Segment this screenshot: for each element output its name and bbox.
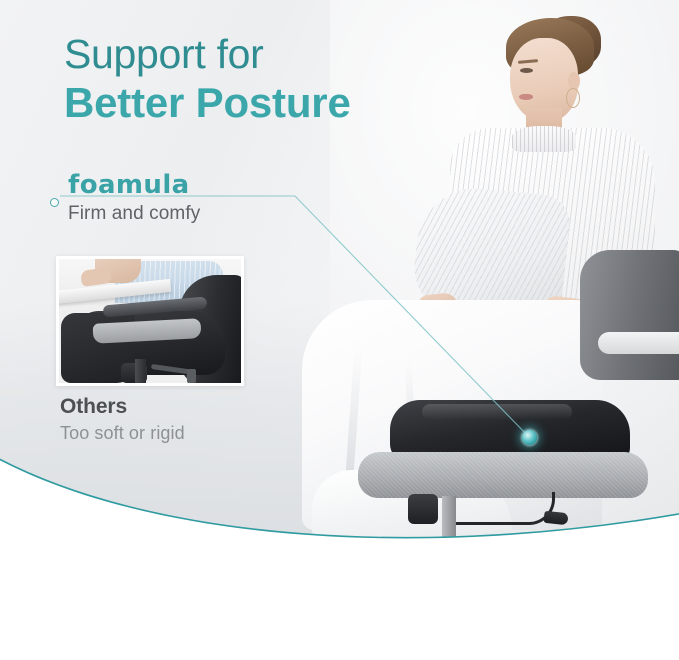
brand-callout: foamula Firm and comfy	[50, 170, 520, 230]
comparison-subtitle: Too soft or rigid	[60, 423, 185, 444]
inset-chair-column	[135, 359, 146, 383]
photo-stage: Support for Better Posture foamula Firm …	[0, 0, 679, 545]
cushion-highlight	[422, 404, 572, 420]
chair-adjust-lever	[456, 492, 555, 525]
inset-chair-foot	[187, 369, 196, 383]
product-marketing-poster: Support for Better Posture foamula Firm …	[0, 0, 679, 660]
chair-gas-lift-housing	[408, 494, 438, 524]
model-lips	[519, 94, 533, 100]
chair-backrest	[580, 250, 679, 380]
callout-origin-dot-icon	[50, 198, 59, 207]
comparison-inset-frame	[56, 256, 244, 386]
page-title: Support for Better Posture	[64, 32, 484, 126]
feature-bar: 50D High-Density Memory Foam CONTAINS CE…	[0, 545, 679, 660]
model-earring	[566, 88, 580, 108]
cushion-hotspot-marker	[522, 430, 537, 445]
comparison-title: Others	[60, 395, 185, 419]
comparison-label-block: Others Too soft or rigid	[60, 395, 185, 444]
model-eye	[520, 68, 533, 73]
chair-armrest	[598, 332, 679, 354]
headline-line-1: Support for	[64, 32, 484, 76]
callout-subtitle: Firm and comfy	[68, 203, 200, 225]
headline-line-2: Better Posture	[64, 80, 484, 125]
model-mock-neck-collar	[512, 126, 576, 152]
comparison-inset-photo	[59, 259, 241, 383]
foamula-logo: foamula	[68, 170, 190, 200]
chair-lever-knob	[543, 511, 568, 525]
chair-column	[442, 496, 456, 538]
